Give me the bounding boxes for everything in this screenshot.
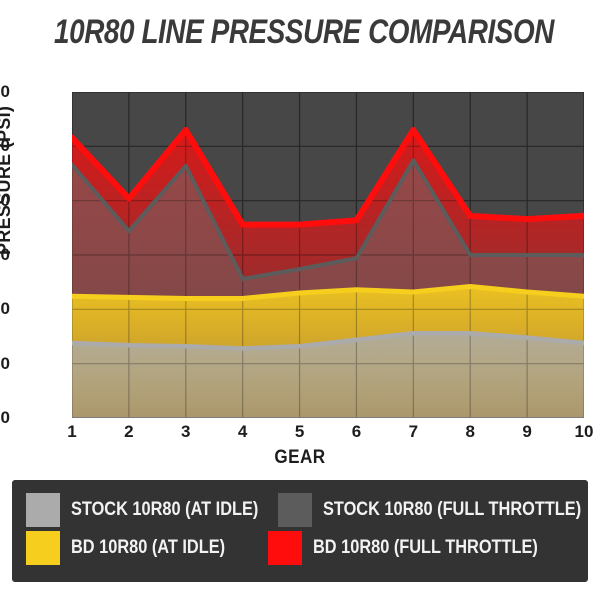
plot-area <box>72 92 584 418</box>
legend-item-label: BD 10R80 (FULL THROTTLE) <box>313 537 538 559</box>
y-axis-tick-label: 200 <box>0 191 10 211</box>
y-axis-tick-label: 250 <box>0 136 10 156</box>
x-axis-tick-label: 5 <box>280 422 320 442</box>
legend-item-stock-full-throttle[interactable]: STOCK 10R80 (FULL THROTTLE) <box>278 491 600 529</box>
y-axis-tick-label: 300 <box>0 82 10 102</box>
y-axis-label: PRESSURE (PSI) <box>0 106 15 255</box>
x-axis-tick-label: 8 <box>450 422 490 442</box>
y-axis-tick-label: 0 <box>0 408 10 428</box>
legend-item-label: STOCK 10R80 (FULL THROTTLE) <box>323 499 581 521</box>
plot-svg <box>72 92 584 418</box>
x-axis-tick-label: 3 <box>166 422 206 442</box>
y-axis-tick-label: 50 <box>0 354 10 374</box>
y-axis-tick-label: 150 <box>0 245 10 265</box>
legend-row: BD 10R80 (AT IDLE) BD 10R80 (FULL THROTT… <box>26 529 574 567</box>
y-axis-tick-label: 100 <box>0 299 10 319</box>
legend-swatch-icon <box>278 493 312 527</box>
chart-legend: STOCK 10R80 (AT IDLE) STOCK 10R80 (FULL … <box>12 480 588 582</box>
x-axis-tick-label: 2 <box>109 422 149 442</box>
chart-container: 10R80 LINE PRESSURE COMPARISON PRESSURE … <box>0 0 600 600</box>
legend-item-bd-full-throttle[interactable]: BD 10R80 (FULL THROTTLE) <box>268 529 574 567</box>
x-axis-tick-label: 6 <box>336 422 376 442</box>
legend-item-stock-idle[interactable]: STOCK 10R80 (AT IDLE) <box>26 491 278 529</box>
legend-row: STOCK 10R80 (AT IDLE) STOCK 10R80 (FULL … <box>26 491 574 529</box>
chart-title: 10R80 LINE PRESSURE COMPARISON <box>54 14 546 51</box>
legend-swatch-icon <box>26 493 60 527</box>
x-axis-label: GEAR <box>30 447 570 469</box>
legend-item-label: BD 10R80 (AT IDLE) <box>71 537 225 559</box>
x-axis-tick-label: 4 <box>223 422 263 442</box>
x-axis-tick-label: 9 <box>507 422 547 442</box>
legend-item-label: STOCK 10R80 (AT IDLE) <box>71 499 258 521</box>
x-axis-tick-label: 1 <box>52 422 92 442</box>
legend-item-bd-idle[interactable]: BD 10R80 (AT IDLE) <box>26 529 268 567</box>
legend-swatch-icon <box>26 531 60 565</box>
x-axis-tick-label: 10 <box>564 422 600 442</box>
x-axis-tick-label: 7 <box>393 422 433 442</box>
legend-swatch-icon <box>268 531 302 565</box>
